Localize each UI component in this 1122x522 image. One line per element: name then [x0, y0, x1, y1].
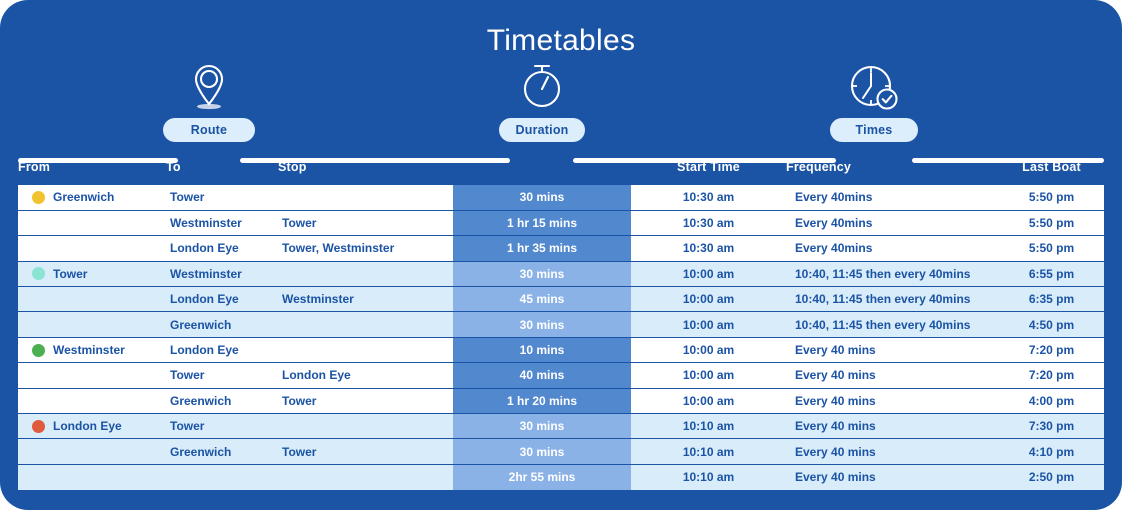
cell-start-time: 10:10 am — [631, 439, 786, 464]
cell-frequency: Every 40 mins — [786, 414, 999, 439]
cell-to: Greenwich — [166, 439, 278, 464]
column-header-frequency: Frequency — [786, 160, 999, 185]
cell-to: London Eye — [166, 236, 278, 261]
cell-to — [166, 464, 278, 489]
cell-frequency: Every 40mins — [786, 185, 999, 210]
cell-stop — [278, 312, 453, 337]
cell-from — [18, 236, 166, 261]
cell-to: Westminster — [166, 210, 278, 235]
table-row[interactable]: 2hr 55 mins10:10 amEvery 40 mins2:50 pm — [18, 464, 1104, 489]
from-label: Westminster — [53, 343, 125, 357]
cell-stop — [278, 414, 453, 439]
cell-last-boat: 6:55 pm — [999, 261, 1104, 286]
table-row[interactable]: WestminsterTower1 hr 15 mins10:30 amEver… — [18, 210, 1104, 235]
cell-from — [18, 439, 166, 464]
route-color-dot-icon — [32, 420, 45, 433]
cell-last-boat: 5:50 pm — [999, 210, 1104, 235]
step-label-text: Route — [191, 123, 227, 137]
table-row[interactable]: London EyeTower30 mins10:10 amEvery 40 m… — [18, 414, 1104, 439]
cell-start-time: 10:10 am — [631, 464, 786, 489]
column-header-last-boat: Last Boat — [999, 160, 1104, 185]
cell-to: London Eye — [166, 337, 278, 362]
cell-stop — [278, 337, 453, 362]
table-row[interactable]: TowerLondon Eye40 mins10:00 amEvery 40 m… — [18, 363, 1104, 388]
clock-check-icon — [842, 58, 904, 114]
cell-frequency: Every 40 mins — [786, 388, 999, 413]
table-row[interactable]: GreenwichTower30 mins10:30 amEvery 40min… — [18, 185, 1104, 210]
cell-to: Greenwich — [166, 388, 278, 413]
cell-to: Greenwich — [166, 312, 278, 337]
table-row[interactable]: GreenwichTower1 hr 20 mins10:00 amEvery … — [18, 388, 1104, 413]
table-row[interactable]: Greenwich30 mins10:00 am10:40, 11:45 the… — [18, 312, 1104, 337]
cell-start-time: 10:00 am — [631, 337, 786, 362]
cell-from — [18, 287, 166, 312]
cell-last-boat: 7:30 pm — [999, 414, 1104, 439]
cell-last-boat: 6:35 pm — [999, 287, 1104, 312]
cell-from: Tower — [18, 261, 166, 286]
cell-duration: 30 mins — [453, 312, 631, 337]
cell-stop: Tower — [278, 388, 453, 413]
cell-last-boat: 4:50 pm — [999, 312, 1104, 337]
table-row[interactable]: WestminsterLondon Eye10 mins10:00 amEver… — [18, 337, 1104, 362]
cell-duration: 45 mins — [453, 287, 631, 312]
cell-stop — [278, 261, 453, 286]
cell-start-time: 10:30 am — [631, 210, 786, 235]
cell-stop: Westminster — [278, 287, 453, 312]
route-color-dot-icon — [32, 344, 45, 357]
cell-to: Tower — [166, 363, 278, 388]
cell-from: Westminster — [18, 337, 166, 362]
table-row[interactable]: TowerWestminster30 mins10:00 am10:40, 11… — [18, 261, 1104, 286]
cell-frequency: Every 40 mins — [786, 337, 999, 362]
cell-duration: 30 mins — [453, 414, 631, 439]
table-row[interactable]: GreenwichTower30 mins10:10 amEvery 40 mi… — [18, 439, 1104, 464]
cell-duration: 40 mins — [453, 363, 631, 388]
cell-start-time: 10:00 am — [631, 312, 786, 337]
cell-duration: 30 mins — [453, 439, 631, 464]
cell-from — [18, 210, 166, 235]
column-header-start-time: Start Time — [631, 160, 786, 185]
cell-from — [18, 312, 166, 337]
progress-stepper: Route Duration Times — [0, 58, 1122, 148]
cell-start-time: 10:00 am — [631, 261, 786, 286]
timetables-card: Timetables — [0, 0, 1122, 510]
column-header-stop: Stop — [278, 160, 453, 185]
table-body: GreenwichTower30 mins10:30 amEvery 40min… — [18, 185, 1104, 490]
cell-start-time: 10:00 am — [631, 363, 786, 388]
cell-last-boat: 4:00 pm — [999, 388, 1104, 413]
cell-duration: 1 hr 35 mins — [453, 236, 631, 261]
cell-duration: 30 mins — [453, 261, 631, 286]
step-label-text: Times — [856, 123, 893, 137]
table-header-row: From To Stop Start Time Frequency Last B… — [18, 160, 1104, 185]
cell-duration: 1 hr 15 mins — [453, 210, 631, 235]
cell-frequency: Every 40 mins — [786, 464, 999, 489]
column-header-duration — [453, 160, 631, 185]
cell-frequency: 10:40, 11:45 then every 40mins — [786, 312, 999, 337]
table-row[interactable]: London EyeWestminster45 mins10:00 am10:4… — [18, 287, 1104, 312]
cell-to: Westminster — [166, 261, 278, 286]
cell-to: London Eye — [166, 287, 278, 312]
cell-start-time: 10:30 am — [631, 185, 786, 210]
cell-from — [18, 363, 166, 388]
cell-last-boat: 7:20 pm — [999, 363, 1104, 388]
cell-duration: 30 mins — [453, 185, 631, 210]
table-row[interactable]: London EyeTower, Westminster1 hr 35 mins… — [18, 236, 1104, 261]
step-label-duration[interactable]: Duration — [499, 118, 585, 142]
timetable-container: From To Stop Start Time Frequency Last B… — [18, 160, 1104, 490]
cell-last-boat: 7:20 pm — [999, 337, 1104, 362]
cell-frequency: Every 40 mins — [786, 439, 999, 464]
cell-frequency: 10:40, 11:45 then every 40mins — [786, 261, 999, 286]
cell-last-boat: 2:50 pm — [999, 464, 1104, 489]
cell-frequency: Every 40mins — [786, 236, 999, 261]
step-label-text: Duration — [516, 123, 569, 137]
cell-stop: Tower — [278, 210, 453, 235]
cell-to: Tower — [166, 185, 278, 210]
timetable: From To Stop Start Time Frequency Last B… — [18, 160, 1104, 490]
column-header-from: From — [18, 160, 166, 185]
from-label: London Eye — [53, 419, 122, 433]
cell-stop: Tower, Westminster — [278, 236, 453, 261]
table-header: From To Stop Start Time Frequency Last B… — [18, 160, 1104, 185]
step-label-route[interactable]: Route — [163, 118, 255, 142]
page-title: Timetables — [0, 24, 1122, 58]
from-label: Greenwich — [53, 190, 114, 204]
cell-stop — [278, 464, 453, 489]
cell-from: London Eye — [18, 414, 166, 439]
cell-duration: 2hr 55 mins — [453, 464, 631, 489]
cell-start-time: 10:30 am — [631, 236, 786, 261]
column-header-to: To — [166, 160, 278, 185]
cell-frequency: Every 40mins — [786, 210, 999, 235]
cell-last-boat: 5:50 pm — [999, 185, 1104, 210]
cell-stop: London Eye — [278, 363, 453, 388]
cell-to: Tower — [166, 414, 278, 439]
cell-from: Greenwich — [18, 185, 166, 210]
cell-start-time: 10:00 am — [631, 388, 786, 413]
route-color-dot-icon — [32, 267, 45, 280]
route-color-dot-icon — [32, 191, 45, 204]
cell-last-boat: 5:50 pm — [999, 236, 1104, 261]
stopwatch-icon — [511, 58, 573, 114]
cell-start-time: 10:00 am — [631, 287, 786, 312]
cell-frequency: 10:40, 11:45 then every 40mins — [786, 287, 999, 312]
location-pin-icon — [178, 58, 240, 114]
cell-start-time: 10:10 am — [631, 414, 786, 439]
cell-duration: 10 mins — [453, 337, 631, 362]
from-label: Tower — [53, 267, 87, 281]
cell-duration: 1 hr 20 mins — [453, 388, 631, 413]
cell-from — [18, 464, 166, 489]
cell-stop — [278, 185, 453, 210]
cell-frequency: Every 40 mins — [786, 363, 999, 388]
cell-last-boat: 4:10 pm — [999, 439, 1104, 464]
cell-from — [18, 388, 166, 413]
cell-stop: Tower — [278, 439, 453, 464]
step-label-times[interactable]: Times — [830, 118, 918, 142]
